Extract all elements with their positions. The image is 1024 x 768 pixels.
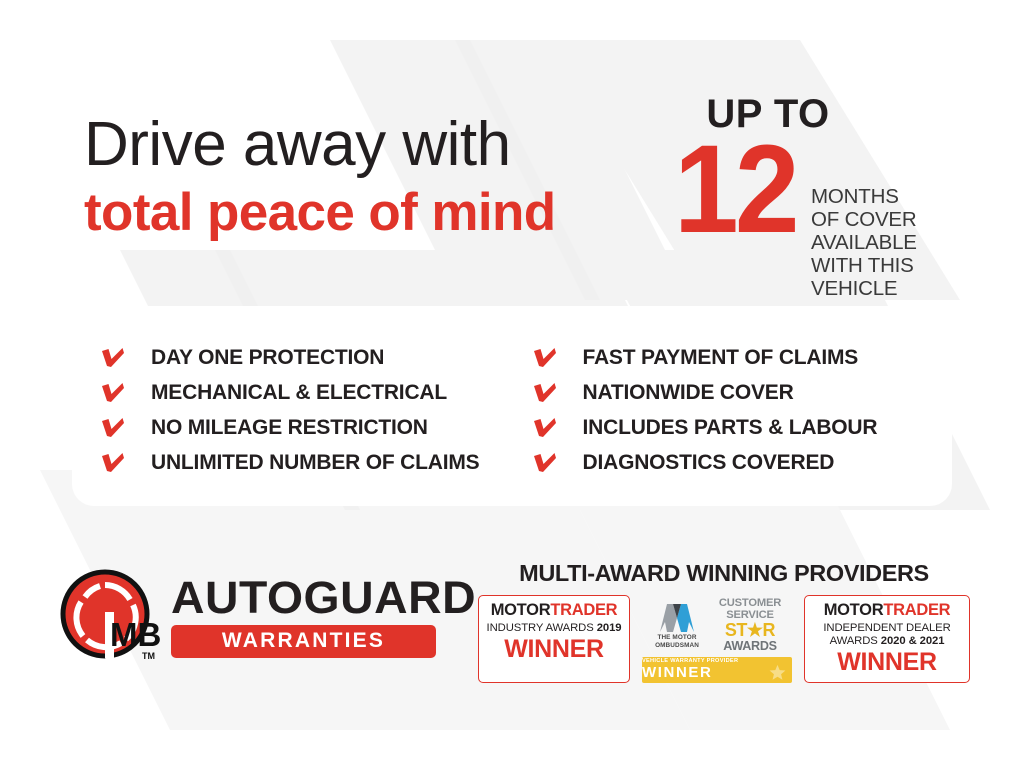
list-item: UNLIMITED NUMBER OF CLAIMS xyxy=(100,445,529,480)
check-icon xyxy=(532,417,558,439)
badge2-top: THE MOTOR OMBUDSMAN CUSTOMER SERVICE ST★… xyxy=(642,598,792,654)
cover-detail-line-4: WITH THIS xyxy=(811,255,917,278)
feature-list: DAY ONE PROTECTION MECHANICAL & ELECTRIC… xyxy=(100,340,960,480)
check-icon xyxy=(100,452,126,474)
ombudsman-m-icon xyxy=(658,602,696,632)
promo-banner: Drive away with total peace of mind UP T… xyxy=(0,0,1024,768)
badge-customer-service-star-awards: THE MOTOR OMBUDSMAN CUSTOMER SERVICE ST★… xyxy=(642,595,792,683)
ombudsman-label: THE MOTOR OMBUDSMAN xyxy=(644,634,710,650)
feature-label: MECHANICAL & ELECTRICAL xyxy=(151,381,447,405)
star-icon xyxy=(769,664,786,681)
list-item: FAST PAYMENT OF CLAIMS xyxy=(532,340,961,375)
motor-ombudsman-logo: THE MOTOR OMBUDSMAN xyxy=(644,602,710,650)
feature-label: FAST PAYMENT OF CLAIMS xyxy=(583,346,859,370)
list-item: DAY ONE PROTECTION xyxy=(100,340,529,375)
badge2-winner-bar: VEHICLE WARRANTY PROVIDER WINNER xyxy=(642,657,792,683)
badge3-subtitle: INDEPENDENT DEALER AWARDS 2020 & 2021 xyxy=(809,622,965,649)
star-awards-line-1: CUSTOMER xyxy=(710,598,790,610)
badge3-sub-awards-row: AWARDS 2020 & 2021 xyxy=(809,635,965,648)
list-item: DIAGNOSTICS COVERED xyxy=(532,445,961,480)
list-item: INCLUDES PARTS & LABOUR xyxy=(532,410,961,445)
warranties-bar: WARRANTIES xyxy=(171,625,436,658)
ombudsman-line-2: OMBUDSMAN xyxy=(644,642,710,650)
check-icon xyxy=(100,347,126,369)
feature-label: NO MILEAGE RESTRICTION xyxy=(151,416,428,440)
star-awards-logo: CUSTOMER SERVICE ST★R AWARDS xyxy=(710,598,790,654)
list-item: NO MILEAGE RESTRICTION xyxy=(100,410,529,445)
badge1-brand: MOTORTRADER xyxy=(483,602,625,619)
cover-detail-text: MONTHS OF COVER AVAILABLE WITH THIS VEHI… xyxy=(811,186,917,301)
ombudsman-line-1: THE MOTOR xyxy=(644,634,710,642)
list-item: MECHANICAL & ELECTRICAL xyxy=(100,375,529,410)
badge3-brand-motor: MOTOR xyxy=(824,601,884,619)
badge-motortrader-independent-dealer-2020-2021: MOTORTRADER INDEPENDENT DEALER AWARDS 20… xyxy=(804,595,970,683)
badge3-sub-year: 2020 & 2021 xyxy=(881,635,945,647)
feature-label: NATIONWIDE COVER xyxy=(583,381,794,405)
autoguard-text-block: AUTOGUARD WARRANTIES xyxy=(171,575,467,658)
cover-detail-line-1: MONTHS xyxy=(811,186,917,209)
badge3-winner: WINNER xyxy=(809,649,965,675)
check-icon xyxy=(100,417,126,439)
badge3-brand: MOTORTRADER xyxy=(809,602,965,619)
badge1-brand-trader: TRADER xyxy=(550,601,617,619)
cover-detail-line-2: OF COVER xyxy=(811,209,917,232)
mbi-logo-icon: MBi TM xyxy=(58,566,163,666)
badge3-sub-awards: AWARDS xyxy=(830,635,878,647)
feature-label: DIAGNOSTICS COVERED xyxy=(583,451,835,475)
badge1-sub-year: 2019 xyxy=(597,622,622,634)
headline: Drive away with total peace of mind xyxy=(84,112,684,241)
awards-badges: MOTORTRADER INDUSTRY AWARDS 2019 WINNER … xyxy=(478,595,970,683)
feature-label: UNLIMITED NUMBER OF CLAIMS xyxy=(151,451,479,475)
feature-column-right: FAST PAYMENT OF CLAIMS NATIONWIDE COVER … xyxy=(532,340,961,480)
cover-months-number: 12 xyxy=(674,136,796,244)
check-icon xyxy=(532,347,558,369)
badge1-winner: WINNER xyxy=(483,636,625,662)
awards-title: MULTI-AWARD WINNING PROVIDERS xyxy=(478,560,970,587)
badge3-brand-trader: TRADER xyxy=(883,601,950,619)
trademark-symbol: TM xyxy=(142,651,155,661)
star-awards-line-3: ST★R xyxy=(710,621,790,640)
star-awards-line-4: AWARDS xyxy=(710,640,790,654)
cover-duration-block: UP TO 12 MONTHS OF COVER AVAILABLE WITH … xyxy=(672,94,962,301)
badge3-sub-text: INDEPENDENT DEALER xyxy=(809,622,965,635)
check-icon xyxy=(100,382,126,404)
check-icon xyxy=(532,382,558,404)
autoguard-logo: MBi TM AUTOGUARD WARRANTIES xyxy=(58,566,467,666)
cover-detail-line-3: AVAILABLE xyxy=(811,232,917,255)
feature-label: INCLUDES PARTS & LABOUR xyxy=(583,416,878,440)
list-item: NATIONWIDE COVER xyxy=(532,375,961,410)
feature-column-left: DAY ONE PROTECTION MECHANICAL & ELECTRIC… xyxy=(100,340,529,480)
check-icon xyxy=(532,452,558,474)
headline-line-2: total peace of mind xyxy=(84,185,684,241)
badge1-subtitle: INDUSTRY AWARDS 2019 xyxy=(483,622,625,635)
badge1-sub-text: INDUSTRY AWARDS xyxy=(487,622,594,634)
badge1-brand-motor: MOTOR xyxy=(491,601,551,619)
feature-label: DAY ONE PROTECTION xyxy=(151,346,384,370)
cover-detail-line-5: VEHICLE xyxy=(811,278,917,301)
warranties-label: WARRANTIES xyxy=(222,629,385,653)
headline-line-1: Drive away with xyxy=(84,112,684,177)
awards-section: MULTI-AWARD WINNING PROVIDERS MOTORTRADE… xyxy=(478,560,970,683)
mbi-wordmark: MBi xyxy=(110,616,163,653)
autoguard-wordmark: AUTOGUARD xyxy=(171,575,476,620)
badge-motortrader-industry-2019: MOTORTRADER INDUSTRY AWARDS 2019 WINNER xyxy=(478,595,630,683)
